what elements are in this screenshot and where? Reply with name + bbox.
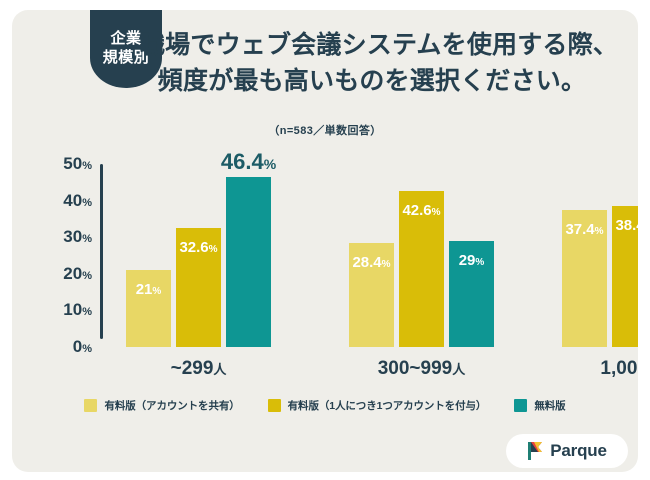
legend-swatch <box>268 399 281 412</box>
bar: 29% <box>449 241 494 347</box>
legend-label: 有料版（1人につき1つアカウントを付与） <box>288 398 487 413</box>
y-axis-tick-label: 50% <box>34 155 92 173</box>
parque-logo-text: Parque <box>550 441 606 461</box>
bar-value-label: 21% <box>126 282 171 298</box>
bar-value-label: 29% <box>449 253 494 269</box>
bar: 42.6% <box>399 191 444 347</box>
y-axis-tick-label: 10% <box>34 301 92 319</box>
y-axis-tick-label: 20% <box>34 265 92 283</box>
legend-swatch <box>84 399 97 412</box>
parque-logo-icon <box>527 441 544 461</box>
chart-card: 企業 規模別 職場でウェブ会議システムを使用する際、 頻度が最も高いものを選択く… <box>12 10 638 472</box>
legend-label: 無料版 <box>534 398 565 413</box>
bar: 46.4% <box>226 177 271 347</box>
y-axis-tick-label: 40% <box>34 192 92 210</box>
legend-label: 有料版（アカウントを共有） <box>104 398 239 413</box>
y-axis-line <box>100 164 103 339</box>
x-axis-group-label: 300~999人 <box>329 359 514 378</box>
bar-fill <box>226 177 271 347</box>
y-axis-tick-label: 30% <box>34 228 92 246</box>
bar-value-label: 38.4% <box>612 218 638 234</box>
parque-logo: Parque <box>506 434 628 468</box>
bar: 28.4% <box>349 243 394 347</box>
legend-item: 有料版（1人につき1つアカウントを付与） <box>268 398 487 413</box>
bar: 37.4% <box>562 210 607 347</box>
y-axis-tick-label: 0% <box>34 338 92 356</box>
bar: 32.6% <box>176 228 221 347</box>
legend-item: 無料版 <box>514 398 565 413</box>
bar: 21% <box>126 270 171 347</box>
bar-value-label: 32.6% <box>176 240 221 256</box>
bar-value-label: 37.4% <box>562 222 607 238</box>
x-axis-group-label: ~299人 <box>106 359 291 378</box>
legend-swatch <box>514 399 527 412</box>
x-axis-group-label: 1,000人~ <box>542 359 638 378</box>
bar-value-label: 46.4% <box>209 151 288 173</box>
chart-legend: 有料版（アカウントを共有）有料版（1人につき1つアカウントを付与）無料版 <box>12 398 638 413</box>
legend-item: 有料版（アカウントを共有） <box>84 398 239 413</box>
bar-value-label: 28.4% <box>349 255 394 271</box>
bar-value-label: 42.6% <box>399 203 444 219</box>
bar: 38.4% <box>612 206 638 347</box>
